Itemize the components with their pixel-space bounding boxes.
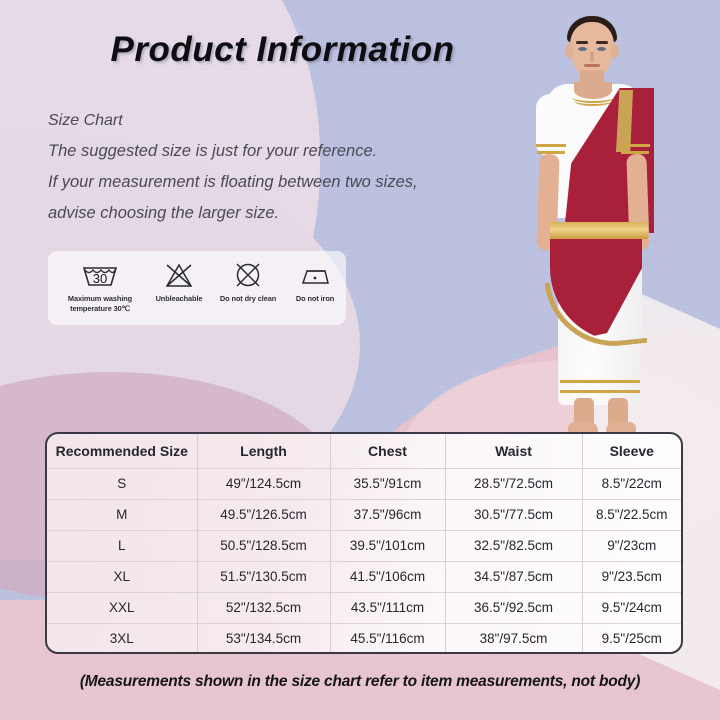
care-label-washing: Maximum washing temperature 30℃	[68, 294, 132, 314]
cell-size: M	[47, 499, 197, 530]
care-instructions-panel: 30 Maximum washing temperature 30℃ Unble	[48, 251, 346, 325]
care-label-iron: Do not iron	[296, 294, 334, 304]
costume-sleeve-trim-right-1	[620, 144, 650, 147]
table-header-size: Recommended Size	[47, 434, 197, 468]
cell-sleeve: 9"/23cm	[582, 530, 681, 561]
cell-size: XL	[47, 561, 197, 592]
cell-size: 3XL	[47, 623, 197, 654]
model-ear-right	[610, 44, 619, 58]
cell-waist: 30.5"/77.5cm	[445, 499, 582, 530]
cell-sleeve: 8.5"/22cm	[582, 468, 681, 499]
wash-tub-30-icon: 30	[80, 259, 120, 291]
cell-length: 49"/124.5cm	[197, 468, 330, 499]
costume-sleeve-trim-left-1	[536, 144, 566, 147]
care-label-washing-line1: Maximum washing	[68, 294, 132, 303]
table-row: L 50.5"/128.5cm 39.5"/101cm 32.5"/82.5cm…	[47, 530, 681, 561]
model-figure	[512, 8, 720, 433]
description-line-2: If your measurement is floating between …	[48, 167, 518, 198]
product-information-page: Product Information Size Chart The sugge…	[0, 0, 720, 720]
model-brow-right	[596, 41, 608, 44]
cell-size: L	[47, 530, 197, 561]
cell-chest: 35.5"/91cm	[330, 468, 445, 499]
measurement-footnote: (Measurements shown in the size chart re…	[0, 673, 720, 691]
size-chart-heading: Size Chart	[48, 105, 518, 136]
size-table: Recommended Size Length Chest Waist Slee…	[47, 434, 681, 654]
cell-sleeve: 9.5"/24cm	[582, 592, 681, 623]
size-chart-table: Recommended Size Length Chest Waist Slee…	[45, 432, 683, 654]
costume-hem-trim-1	[560, 380, 640, 383]
no-dry-clean-icon	[233, 259, 263, 291]
care-item-washing: 30 Maximum washing temperature 30℃	[54, 259, 146, 314]
description-line-1: The suggested size is just for your refe…	[48, 136, 518, 167]
care-item-bleach: Unbleachable	[146, 259, 212, 304]
model-eye-right	[597, 47, 606, 51]
cell-length: 53"/134.5cm	[197, 623, 330, 654]
model-ear-left	[565, 44, 574, 58]
cell-waist: 38"/97.5cm	[445, 623, 582, 654]
table-row: M 49.5"/126.5cm 37.5"/96cm 30.5"/77.5cm …	[47, 499, 681, 530]
svg-text:30: 30	[93, 271, 107, 286]
cell-length: 51.5"/130.5cm	[197, 561, 330, 592]
description-block: Size Chart The suggested size is just fo…	[48, 105, 518, 229]
care-label-washing-line2: temperature 30℃	[70, 304, 130, 313]
cell-waist: 34.5"/87.5cm	[445, 561, 582, 592]
costume-collar-trim-2	[574, 96, 612, 106]
no-iron-icon	[298, 259, 332, 291]
cell-chest: 37.5"/96cm	[330, 499, 445, 530]
cell-size: S	[47, 468, 197, 499]
model-eye-left	[578, 47, 587, 51]
cell-sleeve: 9"/23.5cm	[582, 561, 681, 592]
no-bleach-icon	[164, 259, 194, 291]
cell-chest: 39.5"/101cm	[330, 530, 445, 561]
table-header-sleeve: Sleeve	[582, 434, 681, 468]
costume-gold-belt	[550, 222, 648, 239]
table-row: 3XL 53"/134.5cm 45.5"/116cm 38"/97.5cm 9…	[47, 623, 681, 654]
cell-chest: 43.5"/111cm	[330, 592, 445, 623]
costume-hem-trim-2	[560, 390, 640, 393]
cell-waist: 36.5"/92.5cm	[445, 592, 582, 623]
table-row: XL 51.5"/130.5cm 41.5"/106cm 34.5"/87.5c…	[47, 561, 681, 592]
cell-length: 52"/132.5cm	[197, 592, 330, 623]
cell-chest: 45.5"/116cm	[330, 623, 445, 654]
model-brow-left	[576, 41, 588, 44]
table-header-waist: Waist	[445, 434, 582, 468]
model-nose	[590, 52, 594, 62]
table-header-chest: Chest	[330, 434, 445, 468]
cell-sleeve: 8.5"/22.5cm	[582, 499, 681, 530]
care-label-bleach: Unbleachable	[156, 294, 203, 304]
care-item-dry-clean: Do not dry clean	[212, 259, 284, 304]
table-row: S 49"/124.5cm 35.5"/91cm 28.5"/72.5cm 8.…	[47, 468, 681, 499]
table-row: XXL 52"/132.5cm 43.5"/111cm 36.5"/92.5cm…	[47, 592, 681, 623]
table-header-length: Length	[197, 434, 330, 468]
cell-waist: 28.5"/72.5cm	[445, 468, 582, 499]
care-item-iron: Do not iron	[284, 259, 346, 304]
model-mouth	[584, 64, 600, 67]
cell-waist: 32.5"/82.5cm	[445, 530, 582, 561]
table-header-row: Recommended Size Length Chest Waist Slee…	[47, 434, 681, 468]
cell-size: XXL	[47, 592, 197, 623]
description-line-3: advise choosing the larger size.	[48, 198, 518, 229]
care-label-dry-clean: Do not dry clean	[220, 294, 276, 304]
cell-sleeve: 9.5"/25cm	[582, 623, 681, 654]
cell-length: 50.5"/128.5cm	[197, 530, 330, 561]
cell-length: 49.5"/126.5cm	[197, 499, 330, 530]
cell-chest: 41.5"/106cm	[330, 561, 445, 592]
